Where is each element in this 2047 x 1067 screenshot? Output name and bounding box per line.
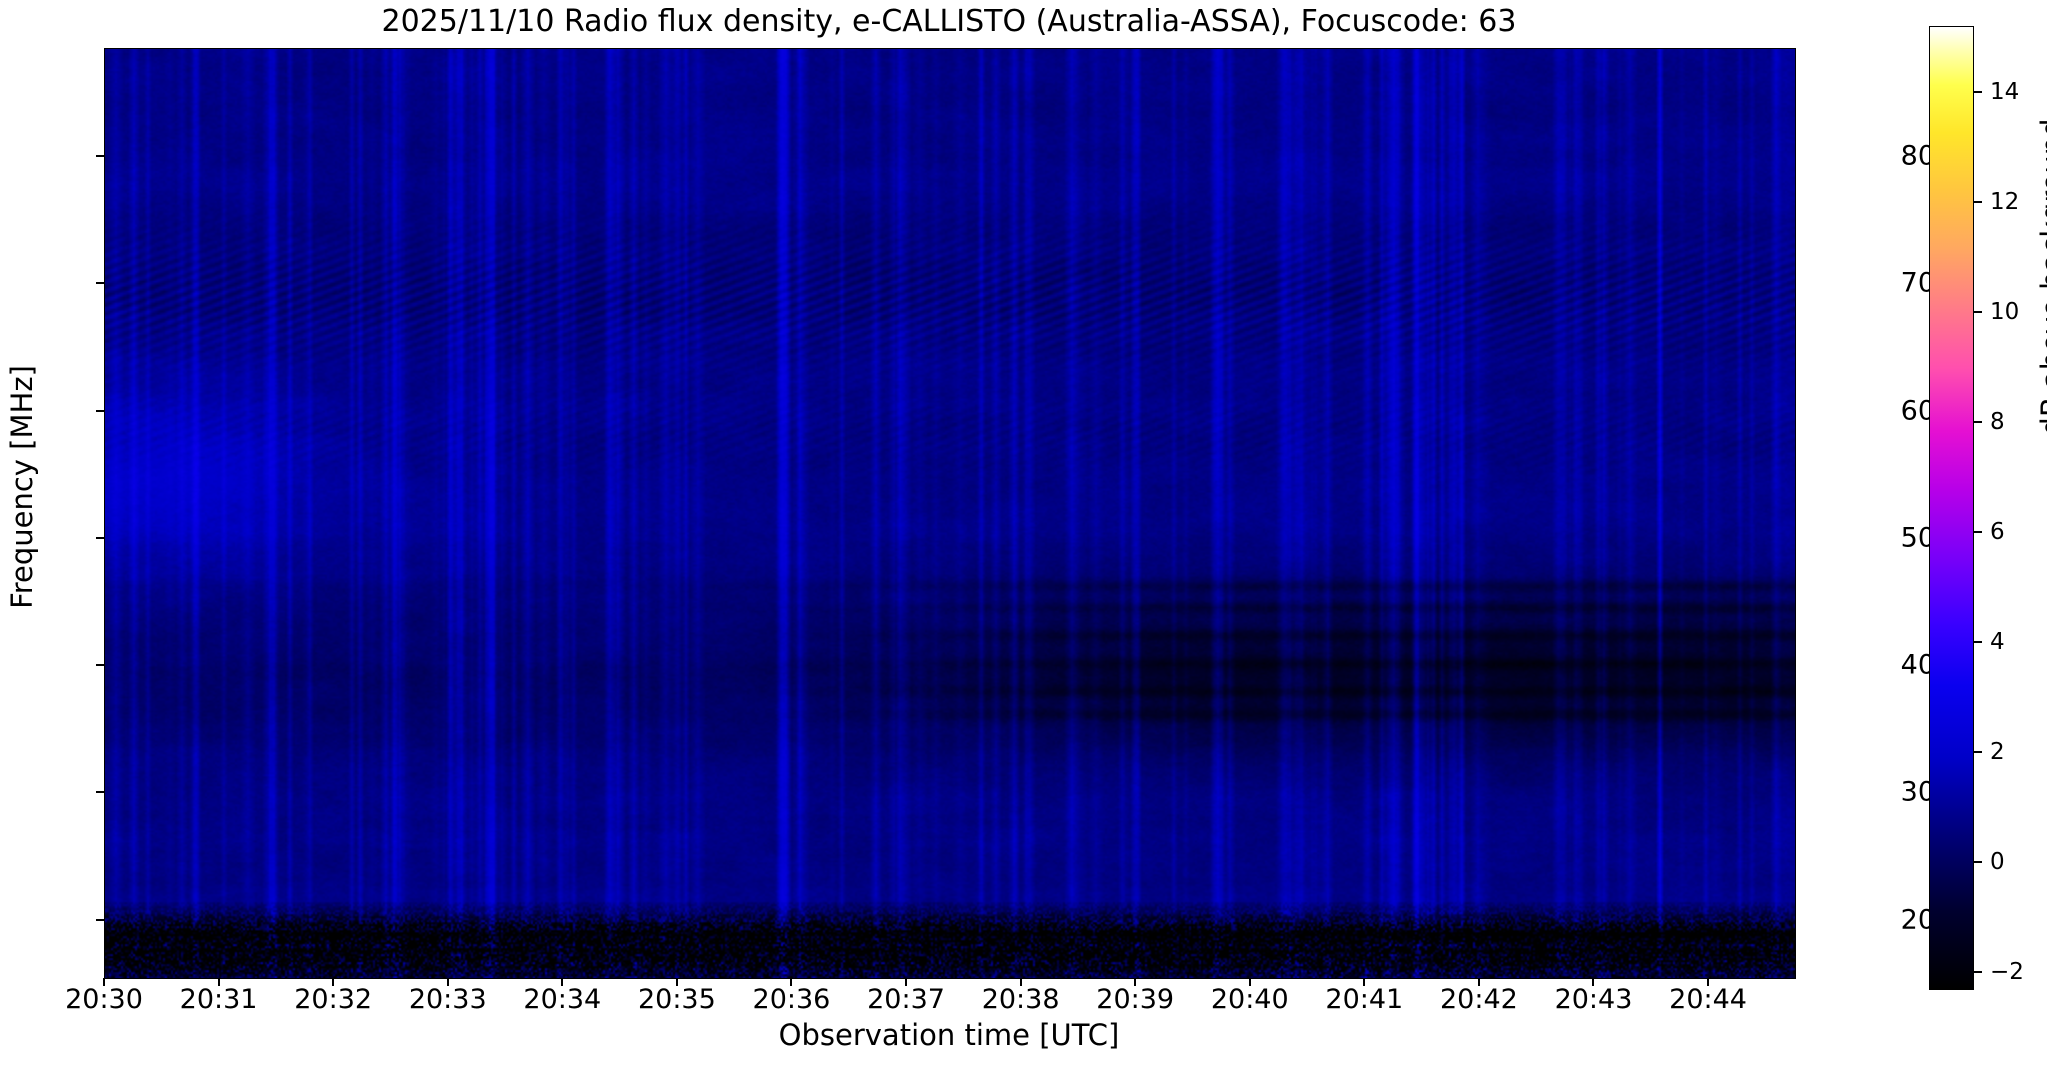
x-tick-mark: [561, 978, 563, 986]
spectrogram-plot-area: [104, 48, 1796, 979]
x-tick-mark: [332, 978, 334, 986]
x-tick-mark: [1363, 978, 1365, 986]
x-tick-mark: [1478, 978, 1480, 986]
colorbar-tick-label: 6: [1990, 519, 2005, 545]
y-tick-mark: [96, 664, 104, 666]
x-tick-label: 20:36: [753, 984, 831, 1015]
x-tick-label: 20:43: [1555, 984, 1633, 1015]
x-tick-label: 20:40: [1211, 984, 1289, 1015]
colorbar: [1929, 26, 1974, 990]
y-axis-label: Frequency [MHz]: [5, 317, 39, 657]
colorbar-tick-mark: [1973, 641, 1982, 643]
colorbar-tick-label: 12: [1990, 189, 2019, 215]
x-tick-mark: [1020, 978, 1022, 986]
x-tick-mark: [1134, 978, 1136, 986]
x-tick-mark: [218, 978, 220, 986]
colorbar-tick-label: 8: [1990, 409, 2005, 435]
x-tick-label: 20:37: [867, 984, 945, 1015]
x-tick-mark: [1249, 978, 1251, 986]
y-tick-mark: [96, 282, 104, 284]
colorbar-tick-label: 14: [1990, 79, 2019, 105]
x-tick-mark: [1707, 978, 1709, 986]
x-tick-label: 20:39: [1096, 984, 1174, 1015]
y-tick-mark: [96, 537, 104, 539]
colorbar-tick-mark: [1973, 531, 1982, 533]
x-tick-mark: [790, 978, 792, 986]
y-axis: Frequency [MHz]: [0, 0, 104, 1067]
x-tick-label: 20:30: [65, 984, 143, 1015]
spectrogram-canvas: [105, 49, 1795, 978]
x-tick-mark: [905, 978, 907, 986]
colorbar-tick-mark: [1973, 311, 1982, 313]
colorbar-tick-mark: [1973, 91, 1982, 93]
colorbar-tick-label: 4: [1990, 629, 2005, 655]
x-axis-label: Observation time [UTC]: [104, 1018, 1794, 1052]
colorbar-axis-label: dB above background: [2035, 47, 2047, 507]
colorbar-tick-mark: [1973, 971, 1982, 973]
y-tick-mark: [96, 791, 104, 793]
x-tick-label: 20:31: [180, 984, 258, 1015]
colorbar-tick-mark: [1973, 421, 1982, 423]
x-tick-mark: [1592, 978, 1594, 986]
x-tick-label: 20:44: [1669, 984, 1747, 1015]
y-tick-mark: [96, 155, 104, 157]
colorbar-tick-label: 10: [1990, 299, 2019, 325]
y-tick-mark: [96, 410, 104, 412]
colorbar-tick-mark: [1973, 751, 1982, 753]
x-tick-label: 20:35: [638, 984, 716, 1015]
x-tick-label: 20:34: [523, 984, 601, 1015]
x-tick-label: 20:38: [982, 984, 1060, 1015]
colorbar-tick-mark: [1973, 201, 1982, 203]
x-tick-label: 20:32: [294, 984, 372, 1015]
colorbar-tick-label: 0: [1990, 849, 2005, 875]
x-tick-label: 20:33: [409, 984, 487, 1015]
colorbar-tick-label: 2: [1990, 739, 2005, 765]
colorbar-tick-label: −2: [1990, 959, 2024, 985]
x-tick-label: 20:42: [1440, 984, 1518, 1015]
y-tick-mark: [96, 919, 104, 921]
x-tick-label: 20:41: [1325, 984, 1403, 1015]
page-title: 2025/11/10 Radio flux density, e-CALLIST…: [104, 2, 1794, 42]
x-tick-mark: [676, 978, 678, 986]
x-tick-mark: [103, 978, 105, 986]
colorbar-tick-mark: [1973, 861, 1982, 863]
x-tick-mark: [447, 978, 449, 986]
